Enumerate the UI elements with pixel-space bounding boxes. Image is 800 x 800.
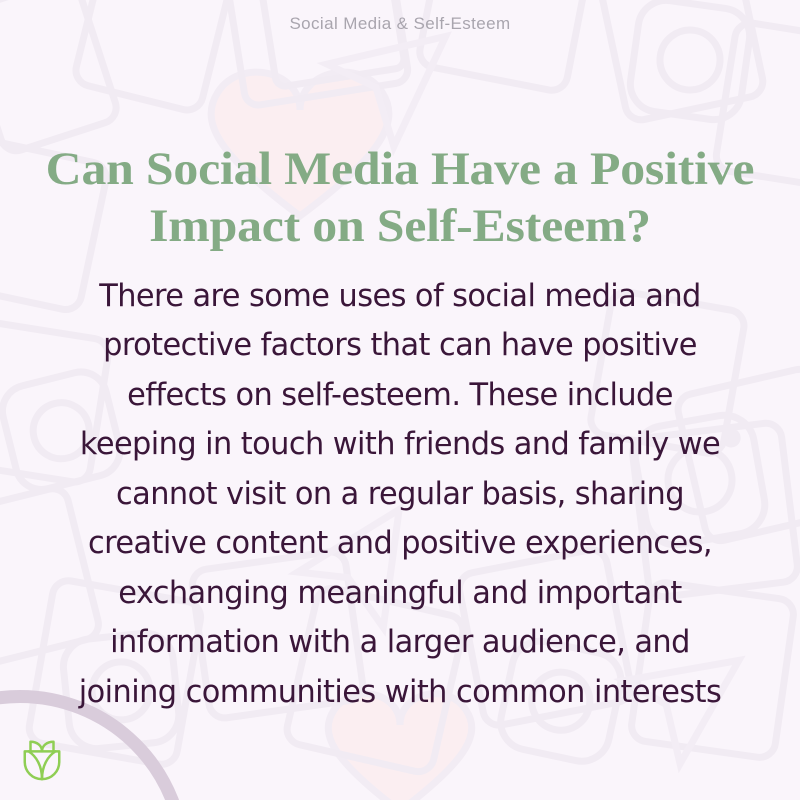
eyebrow-label: Social Media & Self-Esteem [0, 14, 800, 34]
body-paragraph: There are some uses of social media and … [72, 272, 728, 718]
lotus-leaf-logo-icon [19, 737, 65, 783]
page-title: Can Social Media Have a Positive Impact … [18, 141, 781, 255]
poster-canvas: Social Media & Self-Esteem Can Social Me… [0, 0, 800, 800]
